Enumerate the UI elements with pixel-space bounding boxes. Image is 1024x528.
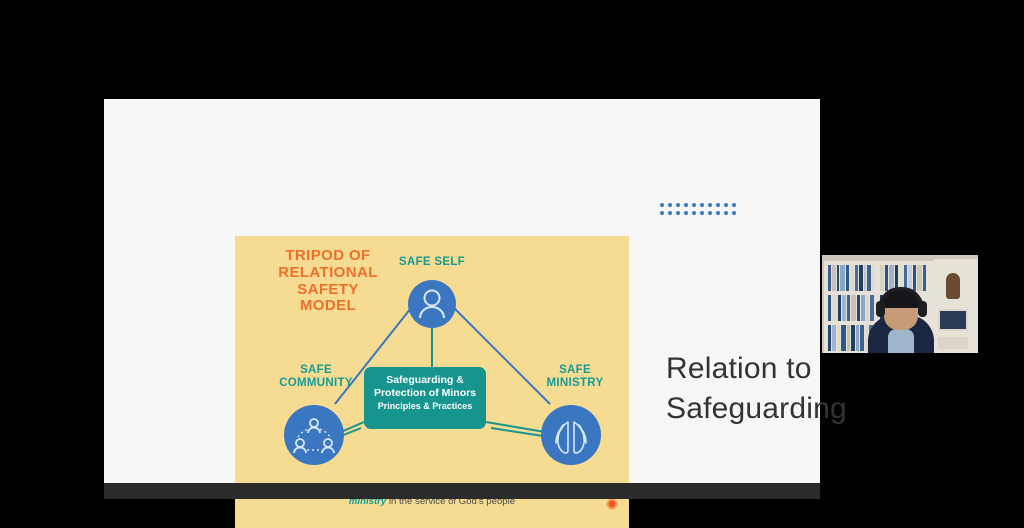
grid-dot — [724, 211, 728, 215]
page-title: Relation to Safeguarding — [666, 349, 916, 428]
screen-share-view: Relation to Safeguarding TRIPOD OF — [0, 0, 1024, 528]
slide-footer-bar — [104, 483, 820, 499]
grid-dot — [692, 211, 696, 215]
sunburst-icon — [605, 497, 619, 511]
headphone-earcup-right — [918, 301, 927, 317]
center-card-title: Safeguarding & Protection of Minors — [370, 374, 480, 399]
model-heading-line-3: SAFETY — [257, 282, 399, 299]
picture-frame — [938, 309, 968, 331]
center-card: Safeguarding & Protection of Minors Prin… — [364, 367, 486, 429]
grid-dot — [668, 203, 672, 207]
grid-dot — [692, 203, 696, 207]
grid-dot — [684, 203, 688, 207]
node-safe-ministry-label: SAFE MINISTRY — [525, 364, 625, 390]
person-icon — [408, 280, 456, 328]
book-row — [828, 295, 876, 321]
grid-dot — [700, 203, 704, 207]
slide-title-line-2: Safeguarding — [666, 389, 916, 429]
participant-video-tile[interactable] — [822, 255, 978, 353]
presentation-slide: Relation to Safeguarding TRIPOD OF — [104, 99, 820, 483]
model-heading-line-4: MODEL — [257, 298, 399, 315]
grid-dot — [708, 203, 712, 207]
grid-dot — [660, 203, 664, 207]
grid-dot — [676, 203, 680, 207]
grid-dot — [668, 211, 672, 215]
people-network-icon — [284, 405, 344, 465]
grid-dot — [676, 211, 680, 215]
grid-dot — [716, 203, 720, 207]
open-hands-icon — [541, 405, 601, 465]
shelf-box — [938, 337, 968, 349]
grid-dot — [708, 211, 712, 215]
bust-sculpture — [946, 273, 960, 299]
grid-dot — [732, 203, 736, 207]
headphone-earcup-left — [876, 301, 885, 317]
decorative-dot-grid — [660, 203, 740, 219]
book-row — [828, 265, 876, 291]
grid-dot — [732, 211, 736, 215]
grid-dot — [724, 203, 728, 207]
center-card-subtitle: Principles & Practices — [370, 401, 480, 412]
grid-dot — [660, 211, 664, 215]
slide-title-line-1: Relation to — [666, 349, 916, 389]
participant-shirt — [888, 329, 914, 353]
node-safe-community-label: SAFE COMMUNITY — [253, 364, 379, 390]
grid-dot — [700, 211, 704, 215]
grid-dot — [684, 211, 688, 215]
node-safe-self-label: SAFE SELF — [368, 256, 496, 269]
grid-dot — [716, 211, 720, 215]
